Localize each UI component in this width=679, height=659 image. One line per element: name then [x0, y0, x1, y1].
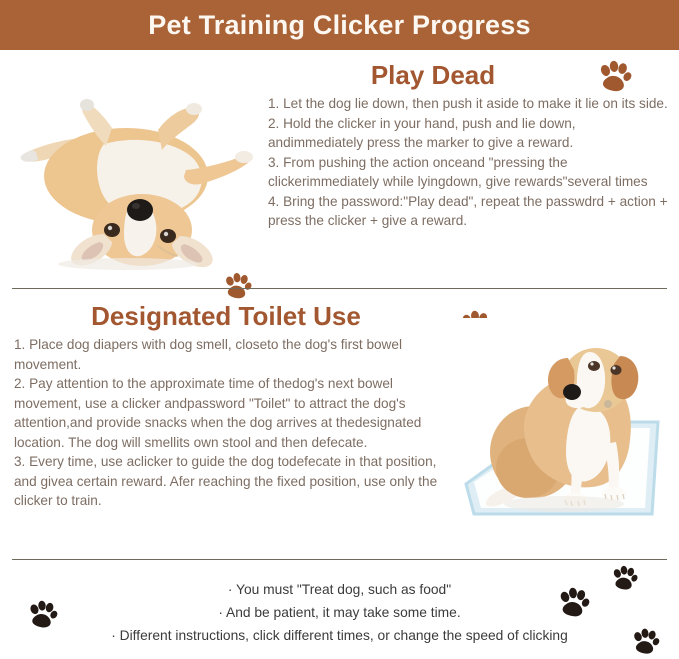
- section-designated-toilet-use: Designated Toilet Use 1. Place dog diape…: [0, 292, 679, 554]
- pet-training-infographic: Pet Training Clicker Progress: [0, 0, 679, 659]
- paw-print-icon: [630, 628, 660, 656]
- section-play-dead: Play Dead 1. Let the dog lie down, then …: [0, 50, 679, 282]
- section-divider: [12, 288, 667, 289]
- section-heading-play-dead: Play Dead: [268, 58, 598, 92]
- paw-print-icon: [596, 60, 632, 94]
- footer-note: · Different instructions, click differen…: [0, 624, 679, 647]
- dog-photo-toilet-use: [448, 318, 670, 540]
- footer-divider: [12, 559, 667, 560]
- play-dead-heading-row: Play Dead: [268, 58, 668, 94]
- page-title: Pet Training Clicker Progress: [148, 12, 530, 39]
- section-heading-toilet-use: Designated Toilet Use: [14, 298, 438, 334]
- paw-print-icon: [610, 565, 638, 592]
- toilet-use-text-block: Designated Toilet Use 1. Place dog diape…: [14, 298, 438, 511]
- paw-print-icon: [26, 600, 58, 630]
- paw-print-icon: [556, 587, 590, 619]
- header-banner: Pet Training Clicker Progress: [0, 0, 679, 50]
- play-dead-steps: 1. Let the dog lie down, then push it as…: [268, 94, 668, 231]
- toilet-use-steps: 1. Place dog diapers with dog smell, clo…: [14, 335, 438, 511]
- dog-photo-play-dead: [8, 58, 256, 270]
- play-dead-text-block: Play Dead 1. Let the dog lie down, then …: [268, 58, 668, 231]
- footer-notes: · You must "Treat dog, such as food" · A…: [0, 566, 679, 659]
